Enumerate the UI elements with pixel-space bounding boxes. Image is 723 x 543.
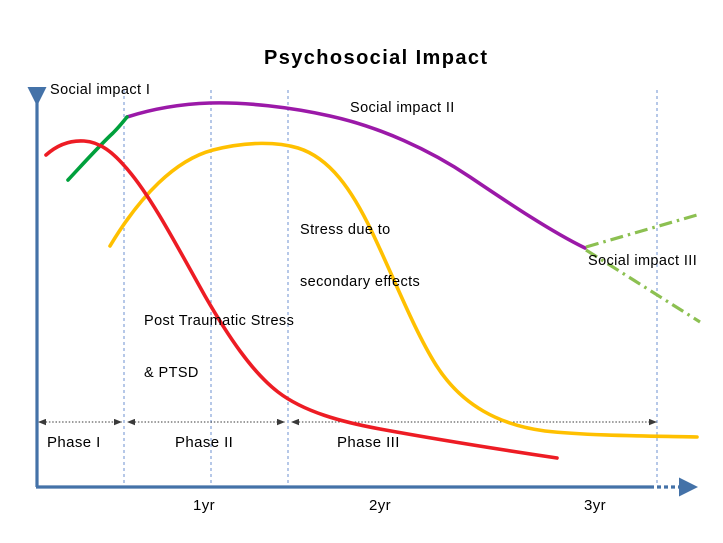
ptsd-label-line-1: Post Traumatic Stress <box>144 313 294 330</box>
x-tick-label-1yr: 1yr <box>193 497 215 515</box>
label-stress-due-to-secondary-effects: Stress due to secondary effects <box>300 188 420 325</box>
label-social-impact-1: Social impact I <box>50 82 150 99</box>
social-impact-3-upper-branch <box>586 215 697 247</box>
stress-label-line-1: Stress due to <box>300 222 420 239</box>
phase-label-1: Phase I <box>47 434 101 452</box>
ptsd-label-line-2: & PTSD <box>144 365 294 382</box>
x-tick-label-2yr: 2yr <box>369 497 391 515</box>
label-social-impact-2: Social impact II <box>350 100 455 117</box>
stress-label-line-2: secondary effects <box>300 274 420 291</box>
series-social-impact-1 <box>68 117 127 180</box>
label-post-traumatic-stress: Post Traumatic Stress & PTSD <box>144 279 294 416</box>
phase-label-2: Phase II <box>175 434 233 452</box>
phase-label-3: Phase III <box>337 434 400 452</box>
page-title: Psychosocial Impact <box>264 47 488 71</box>
label-social-impact-3: Social impact III <box>588 253 697 270</box>
x-tick-label-3yr: 3yr <box>584 497 606 515</box>
chart-canvas: Psychosocial Impact Social impact I Soci… <box>0 0 723 543</box>
